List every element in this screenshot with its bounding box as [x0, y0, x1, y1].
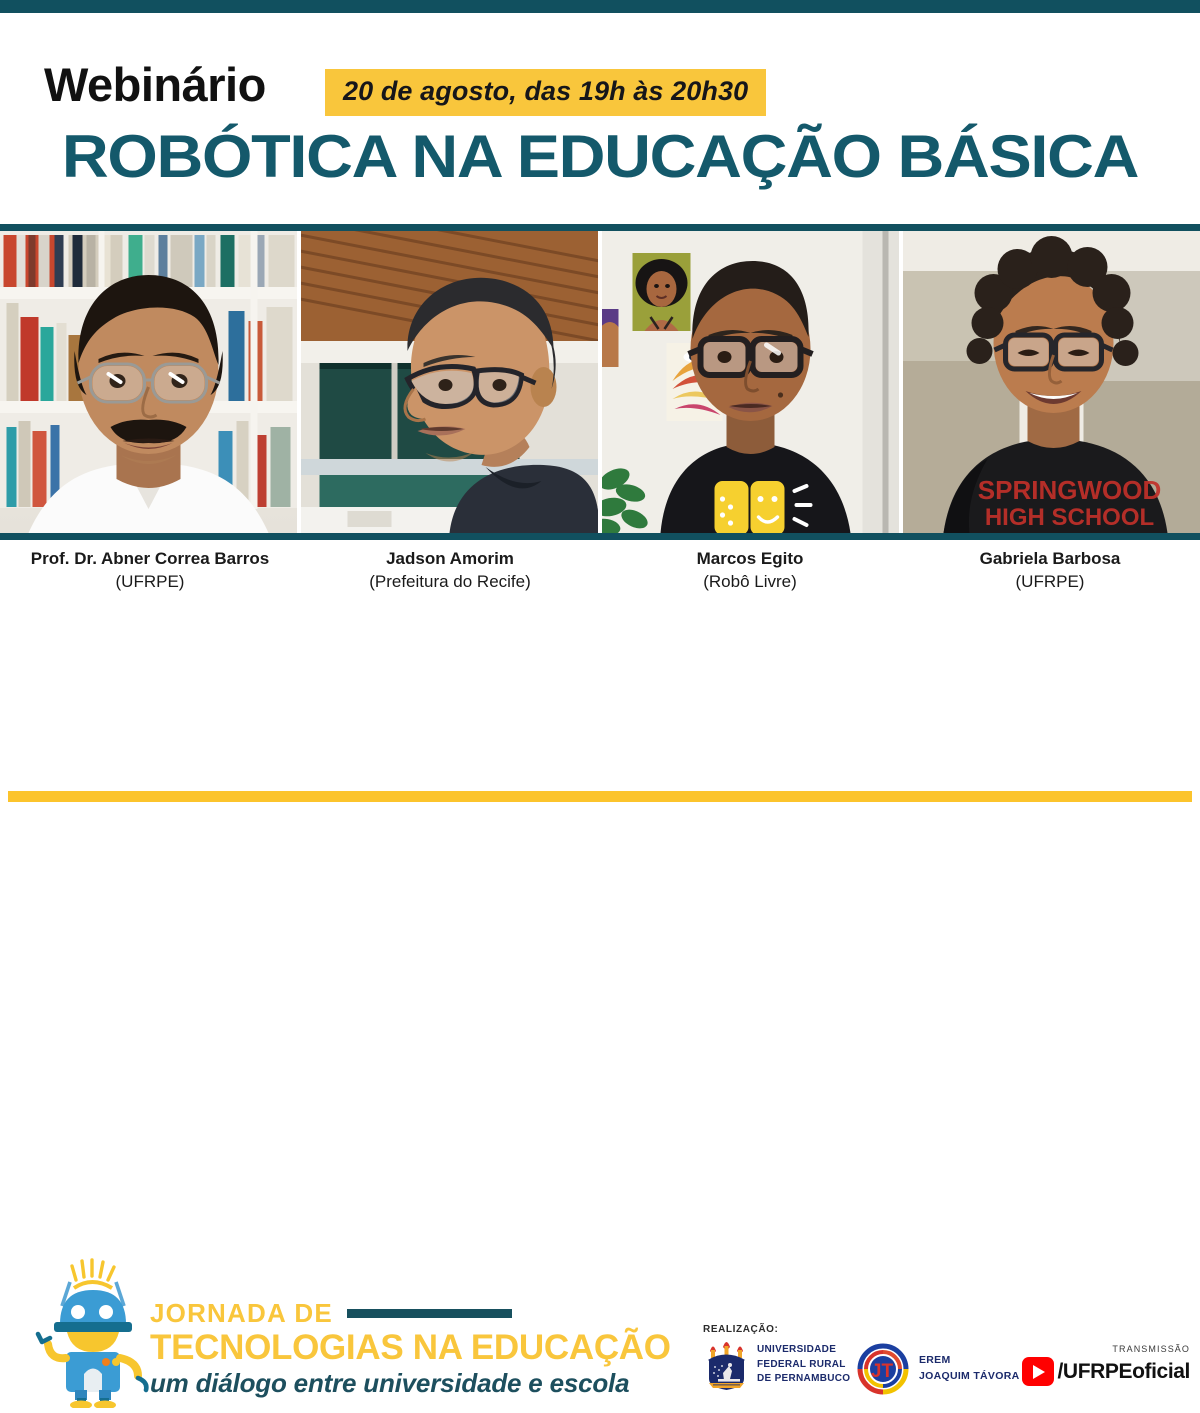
photo-abner-illustration [0, 231, 297, 533]
speaker-photo-4: SPRINGWOOD HIGH SCHOOL [903, 231, 1200, 533]
speaker-photo-3 [602, 231, 899, 533]
photo-gabriela-illustration: SPRINGWOOD HIGH SCHOOL [903, 231, 1200, 533]
youtube-icon[interactable] [1022, 1357, 1054, 1386]
robot-mascot-icon [34, 1258, 149, 1408]
photo-strip-top-rule [0, 224, 1200, 231]
date-time-badge: 20 de agosto, das 19h às 20h30 [325, 69, 766, 116]
speaker-caption-4: Gabriela Barbosa (UFRPE) [900, 540, 1200, 610]
transmissao-label: TRANSMISSÃO [1022, 1344, 1190, 1354]
speaker-caption-1: Prof. Dr. Abner Correa Barros (UFRPE) [0, 540, 300, 610]
youtube-play-triangle [1033, 1365, 1045, 1379]
speaker-name: Jadson Amorim [300, 548, 600, 571]
poster-header: Webinário 20 de agosto, das 19h às 20h30… [0, 13, 1200, 225]
speaker-affiliation: (UFRPE) [0, 571, 300, 594]
jt-monogram: JT [871, 1361, 894, 1382]
jt-circular-logo-icon: JT [855, 1342, 911, 1396]
ufrpe-line-3: DE PERNAMBUCO [757, 1372, 850, 1387]
photo-strip-bottom-rule [0, 533, 1200, 540]
photo-jadson-illustration [301, 231, 598, 533]
erem-line-1: EREM [919, 1353, 1019, 1369]
bottom-accent-bar [8, 791, 1192, 802]
erem-line-2: JOAQUIM TÁVORA [919, 1369, 1019, 1385]
speaker-caption-2: Jadson Amorim (Prefeitura do Recife) [300, 540, 600, 610]
speaker-photo-1 [0, 231, 297, 533]
speaker-name: Marcos Egito [600, 548, 900, 571]
transmissao-block: TRANSMISSÃO /UFRPEoficial [1022, 1344, 1190, 1386]
poster-footer: JORNADA DE TECNOLOGIAS NA EDUCAÇÃO um di… [0, 620, 1200, 805]
brand-line-2: TECNOLOGIAS NA EDUCAÇÃO [150, 1328, 671, 1367]
speaker-photo-strip: SPRINGWOOD HIGH SCHOOL [0, 231, 1200, 533]
speaker-affiliation: (Robô Livre) [600, 571, 900, 594]
ufrpe-shield-icon [703, 1339, 750, 1391]
speaker-names-row: Prof. Dr. Abner Correa Barros (UFRPE) Ja… [0, 540, 1200, 610]
speaker-photo-2 [301, 231, 598, 533]
top-accent-bar [0, 0, 1200, 13]
brand-divider-dash [347, 1309, 512, 1318]
speaker-affiliation: (UFRPE) [900, 571, 1200, 594]
speaker-caption-3: Marcos Egito (Robô Livre) [600, 540, 900, 610]
ufrpe-line-2: FEDERAL RURAL [757, 1358, 850, 1373]
svg-text:SPRINGWOOD: SPRINGWOOD [978, 475, 1161, 505]
ufrpe-wordmark: UNIVERSIDADE FEDERAL RURAL DE PERNAMBUCO [757, 1343, 850, 1387]
erem-wordmark: EREM JOAQUIM TÁVORA [919, 1353, 1019, 1385]
ufrpe-logo: UNIVERSIDADE FEDERAL RURAL DE PERNAMBUCO [703, 1339, 850, 1391]
youtube-handle[interactable]: /UFRPEoficial [1058, 1360, 1191, 1384]
photo-marcos-illustration [602, 231, 899, 533]
speaker-name: Prof. Dr. Abner Correa Barros [0, 548, 300, 571]
speaker-name: Gabriela Barbosa [900, 548, 1200, 571]
erem-logo: JT EREM JOAQUIM TÁVORA [855, 1342, 1019, 1396]
jornada-brand-lockup: JORNADA DE TECNOLOGIAS NA EDUCAÇÃO um di… [150, 1300, 671, 1399]
speaker-affiliation: (Prefeitura do Recife) [300, 571, 600, 594]
brand-line-1: JORNADA DE [150, 1300, 333, 1326]
page-title: ROBÓTICA NA EDUCAÇÃO BÁSICA [0, 125, 1200, 188]
brand-line-3: um diálogo entre universidade e escola [150, 1368, 671, 1399]
realizacao-block: REALIZAÇÃO: [703, 1324, 850, 1391]
webinar-poster: Webinário 20 de agosto, das 19h às 20h30… [0, 0, 1200, 805]
ufrpe-line-1: UNIVERSIDADE [757, 1343, 850, 1358]
kicker-label: Webinário [44, 61, 266, 108]
svg-text:HIGH SCHOOL: HIGH SCHOOL [985, 504, 1154, 531]
realizacao-label: REALIZAÇÃO: [703, 1324, 850, 1335]
